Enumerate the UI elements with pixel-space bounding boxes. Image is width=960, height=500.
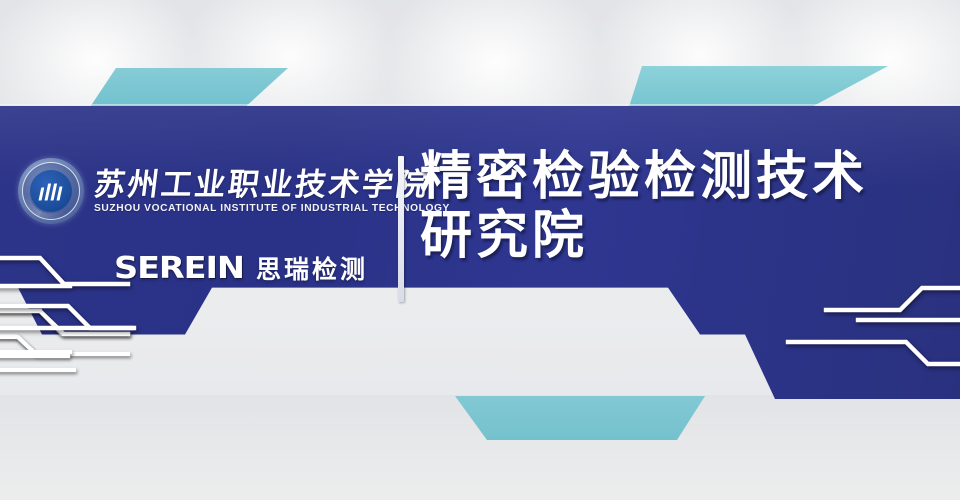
page-title-line-2: 研究院 — [420, 207, 950, 266]
partner-lockup: SEREIN 思瑞检测 — [114, 250, 396, 286]
page-title: 精密检验检测技术 研究院 — [420, 148, 950, 267]
vertical-divider — [398, 156, 404, 302]
university-lockup: 苏州工业职业技术学院 SUZHOU VOCATIONAL INSTITUTE O… — [18, 158, 396, 224]
serein-wordmark: SEREIN — [114, 251, 244, 286]
signage-scene: 苏州工业职业技术学院 SUZHOU VOCATIONAL INSTITUTE O… — [0, 0, 960, 500]
university-name-en: SUZHOU VOCATIONAL INSTITUTE OF INDUSTRIA… — [94, 203, 450, 214]
page-title-line-1: 精密检验检测技术 — [420, 148, 950, 207]
panel-content: 苏州工业职业技术学院 SUZHOU VOCATIONAL INSTITUTE O… — [0, 106, 960, 399]
university-crest-icon — [18, 158, 84, 224]
brand-column: 苏州工业职业技术学院 SUZHOU VOCATIONAL INSTITUTE O… — [18, 158, 396, 286]
university-names: 苏州工业职业技术学院 SUZHOU VOCATIONAL INSTITUTE O… — [94, 168, 450, 215]
serein-name-cn: 思瑞检测 — [256, 250, 368, 286]
teal-tab-bottom — [455, 396, 705, 440]
